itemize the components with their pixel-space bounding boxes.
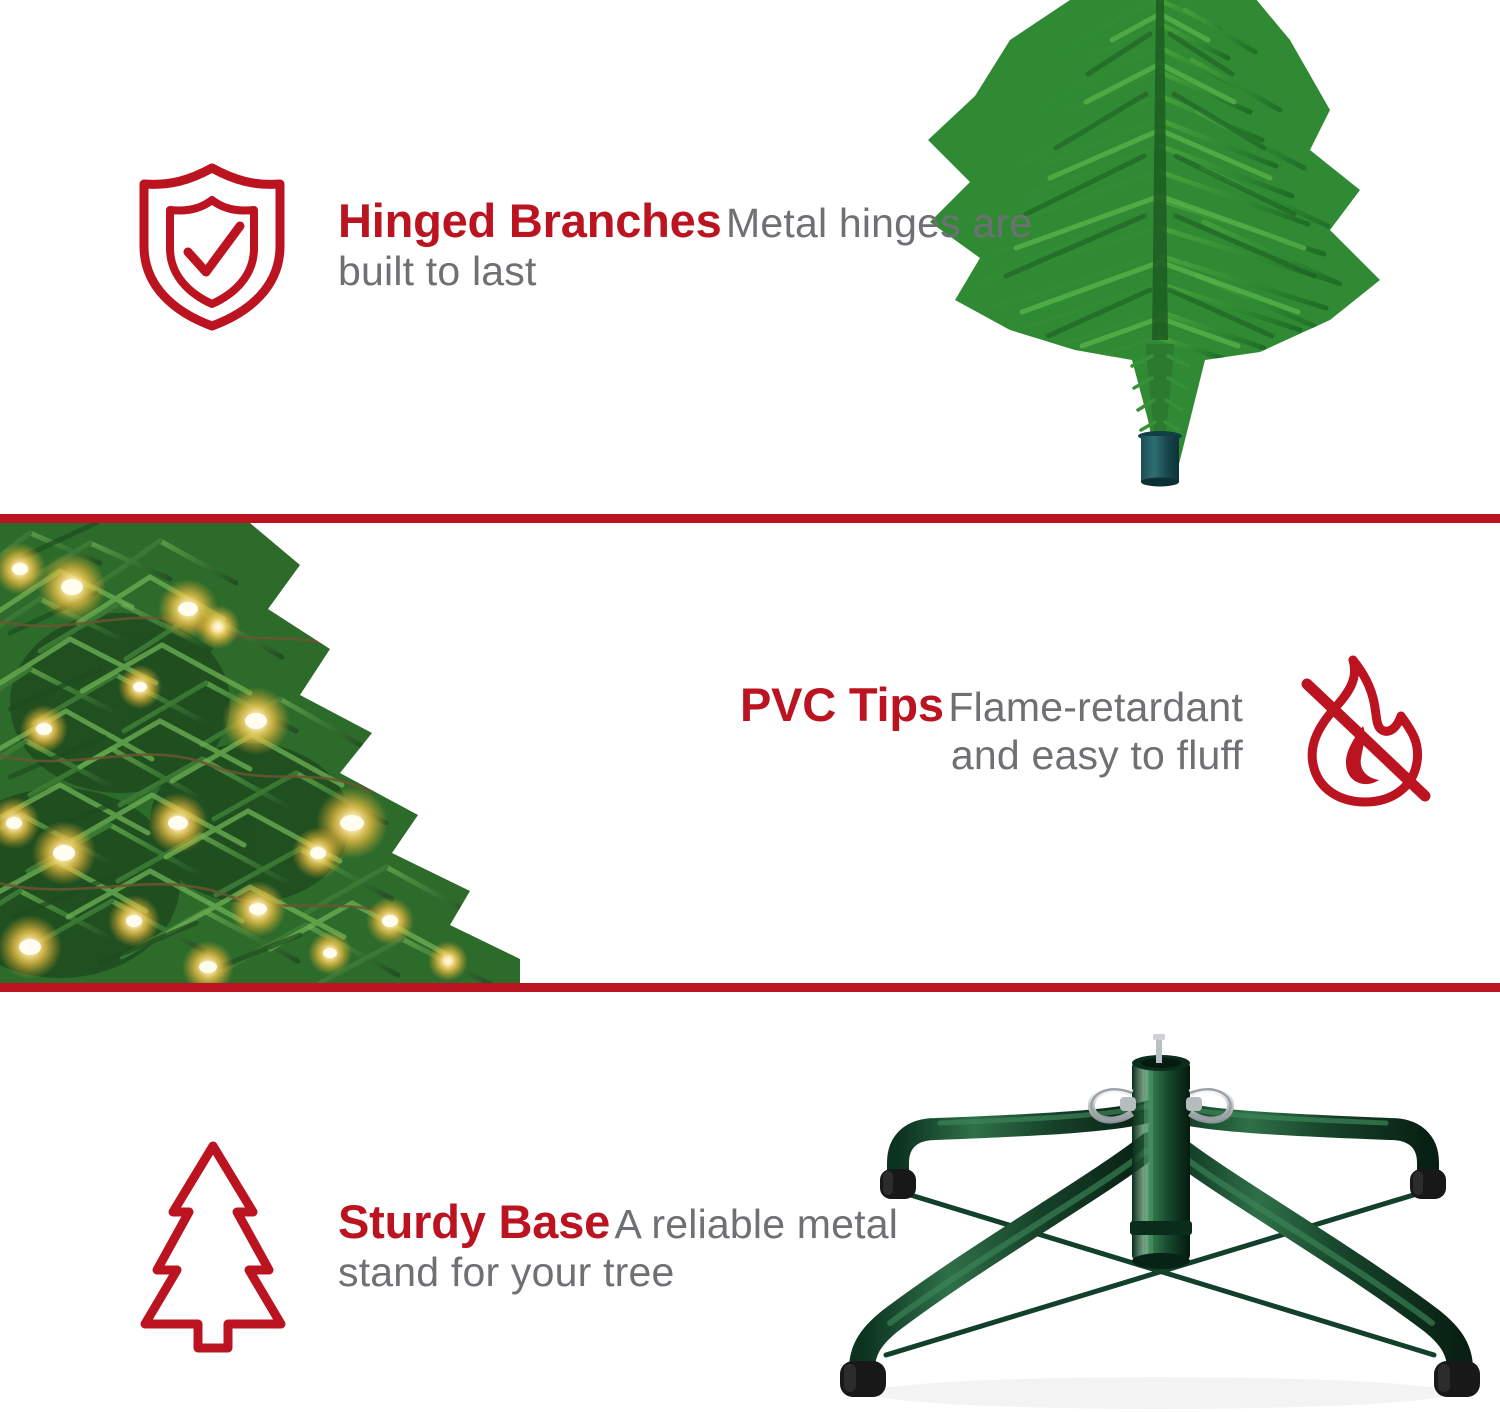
no-flame-icon (1289, 650, 1439, 810)
feature-description: Flame-retardant and easy to fluff (948, 684, 1243, 778)
section-divider-top (0, 514, 1500, 523)
feature-title: Sturdy Base (338, 1195, 610, 1248)
feature-text-block: Sturdy Base A reliable metal stand for y… (338, 1198, 898, 1297)
feature-hinged-branches: Hinged Branches Metal hinges are built t… (132, 160, 1032, 332)
prelit-tree-photo (0, 523, 560, 983)
shield-check-icon (132, 160, 292, 332)
feature-pvc-tips: PVC Tips Flame-retardant and easy to flu… (740, 650, 1439, 810)
feature-sturdy-base: Sturdy Base A reliable metal stand for y… (140, 1138, 898, 1356)
feature-text-block: PVC Tips Flame-retardant and easy to flu… (740, 681, 1243, 780)
feature-title: PVC Tips (740, 678, 944, 731)
product-feature-infographic: Hinged Branches Metal hinges are built t… (0, 0, 1500, 1412)
feature-title: Hinged Branches (338, 194, 722, 247)
feature-text-block: Hinged Branches Metal hinges are built t… (338, 197, 1032, 296)
section-divider-bottom (0, 983, 1500, 992)
tree-stand-photo (820, 1025, 1500, 1412)
christmas-tree-icon (140, 1138, 286, 1356)
